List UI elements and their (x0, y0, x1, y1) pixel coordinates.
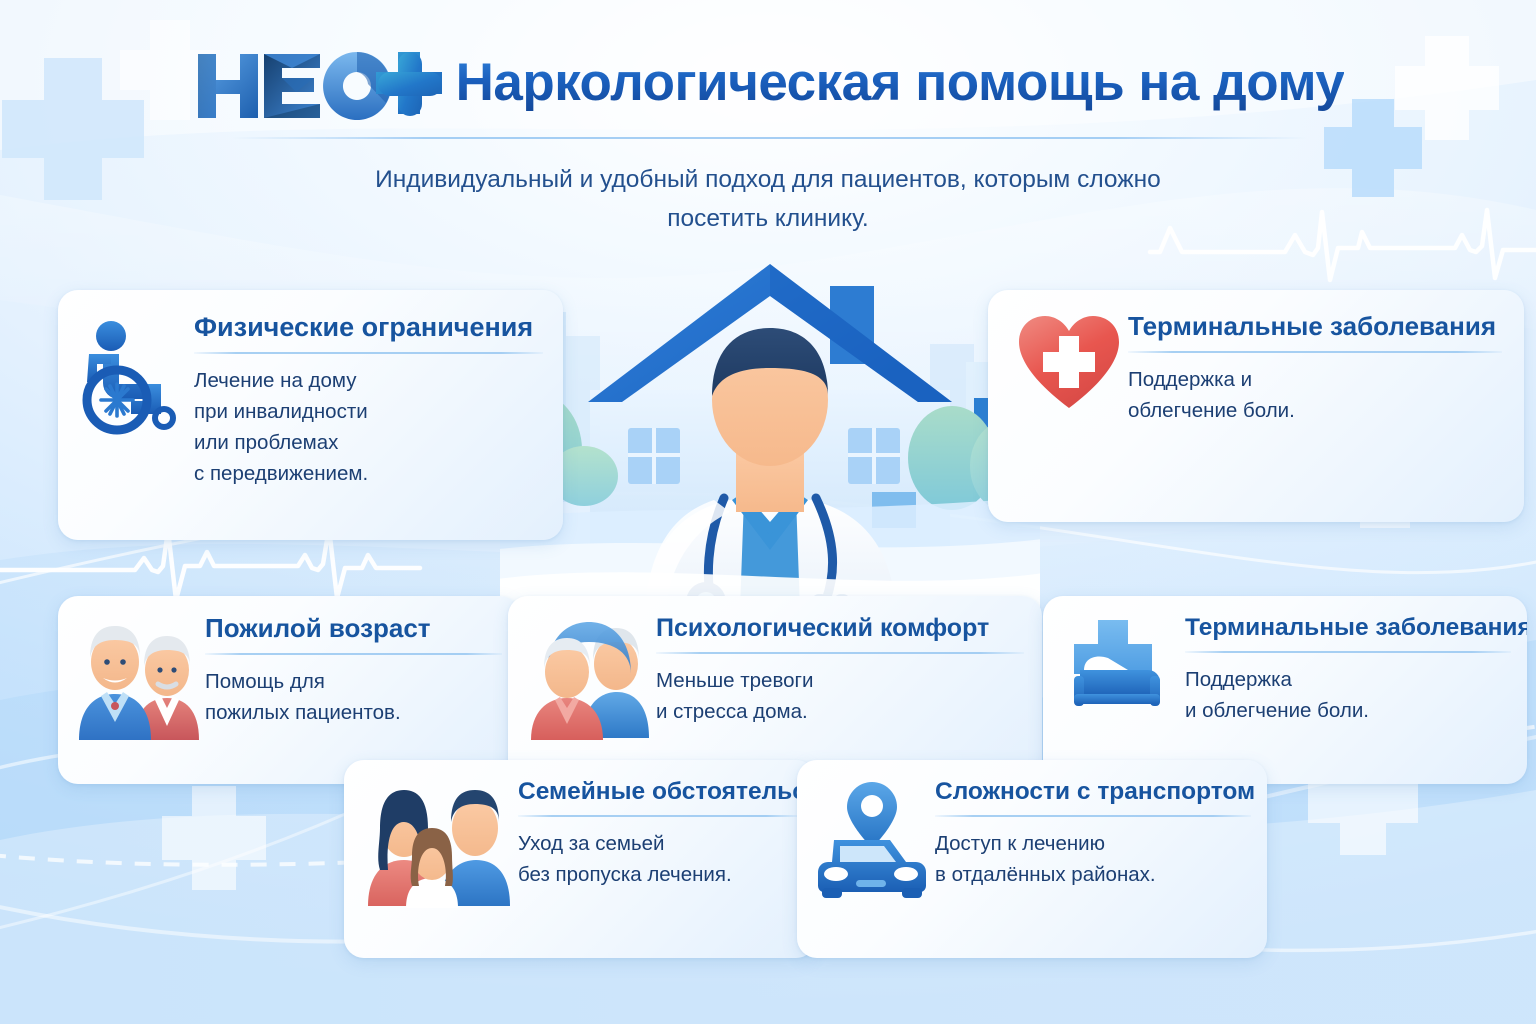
card-transport-difficulties[interactable]: Сложности с транспортом Доступ к лечению… (797, 760, 1267, 958)
wheel-spokes (101, 384, 133, 416)
card-title: Сложности с транспортом (935, 778, 1251, 806)
card-icon-wrapper (358, 778, 518, 908)
card-icon-wrapper (1010, 312, 1128, 412)
car-headlight-left (824, 867, 848, 881)
card-terminal-illness-heart[interactable]: Терминальные заболевания Поддержка и обл… (988, 290, 1524, 522)
desc-line: Поддержка (1185, 664, 1511, 695)
page-title: Наркологическая помощь на дому (456, 55, 1345, 111)
elderly-man-tie (111, 702, 119, 710)
card-title: Пожилой возраст (205, 614, 502, 644)
card-title: Семейные обстоятельства (518, 778, 800, 806)
card-title: Терминальные заболевания (1185, 614, 1511, 642)
card-description: Доступ к лечению в отдалённых районах. (935, 828, 1251, 890)
desc-line: без пропуска лечения. (518, 859, 800, 890)
desc-line: облегчение боли. (1128, 395, 1502, 426)
card-title: Психологический комфорт (656, 614, 1024, 643)
car-headlight-right (894, 867, 918, 881)
card-body: Терминальные заболевания Поддержка и обл… (1185, 614, 1511, 726)
card-icon-wrapper (811, 778, 935, 898)
desc-line: Лечение на дому (194, 365, 543, 396)
subtitle-line-2: посетить клинику. (0, 199, 1536, 238)
header: Наркологическая помощь на дому Индивидуа… (0, 0, 1536, 126)
desc-line: пожилых пациентов. (205, 697, 502, 728)
card-icon-wrapper (76, 312, 194, 437)
card-physical-limitations[interactable]: Физические ограничения Лечение на дому п… (58, 290, 563, 540)
page-subtitle: Индивидуальный и удобный подход для паци… (0, 160, 1536, 238)
card-description: Уход за семьей без пропуска лечения. (518, 828, 800, 890)
desc-line: Поддержка и (1128, 364, 1502, 395)
hospital-bed-cross-icon (1062, 614, 1182, 724)
card-icon-wrapper (1059, 614, 1185, 724)
desc-line: и стресса дома. (656, 696, 1024, 727)
card-title: Терминальные заболевания (1128, 312, 1502, 342)
card-terminal-illness-bed[interactable]: Терминальные заболевания Поддержка и обл… (1043, 596, 1527, 784)
wheelchair-caster (155, 409, 173, 427)
desc-line: Уход за семьей (518, 828, 800, 859)
elderly-couple-icon (75, 614, 203, 742)
infographic-canvas: Наркологическая помощь на дому Индивидуа… (0, 0, 1536, 1024)
card-description: Поддержка и облегчение боли. (1185, 664, 1511, 726)
card-description: Поддержка и облегчение боли. (1128, 364, 1502, 426)
two-people-icon (527, 614, 653, 742)
heart-cross-icon (1015, 312, 1123, 412)
neo-plus-logo (192, 40, 442, 126)
card-body: Физические ограничения Лечение на дому п… (194, 312, 543, 489)
car-pin-icon (814, 778, 932, 898)
card-elderly-age[interactable]: Пожилой возраст Помощь для пожилых пацие… (58, 596, 520, 784)
card-body: Сложности с транспортом Доступ к лечению… (935, 778, 1251, 890)
subtitle-line-1: Индивидуальный и удобный подход для паци… (0, 160, 1536, 199)
desc-line: или проблемах (194, 427, 543, 458)
card-title: Физические ограничения (194, 312, 543, 343)
doctor-house-illustration (500, 250, 1040, 610)
title-divider (232, 137, 1307, 139)
desc-line: и облегчение боли. (1185, 695, 1511, 726)
family-icon (362, 778, 514, 908)
card-psychological-comfort[interactable]: Психологический комфорт Меньше тревоги и… (508, 596, 1042, 784)
card-divider (935, 815, 1251, 817)
card-divider (205, 653, 502, 655)
card-divider (1128, 351, 1502, 353)
card-divider (656, 652, 1024, 654)
card-description: Лечение на дому при инвалидности или про… (194, 365, 543, 489)
pin-hole (861, 795, 883, 817)
car-grille (856, 880, 886, 887)
card-icon-wrapper (72, 614, 205, 742)
card-divider (518, 815, 800, 817)
card-body: Психологический комфорт Меньше тревоги и… (656, 614, 1024, 727)
car-wheel-left (822, 888, 842, 898)
card-divider (194, 352, 543, 354)
bed-frame (1080, 670, 1160, 696)
wheelchair-head (96, 321, 126, 351)
card-family-circumstances[interactable]: Семейные обстоятельства Уход за семьей б… (344, 760, 816, 958)
desc-line: Меньше тревоги (656, 665, 1024, 696)
desc-line: в отдалённых районах. (935, 859, 1251, 890)
wheelchair-icon (79, 312, 191, 437)
desc-line: с передвижением. (194, 458, 543, 489)
desc-line: при инвалидности (194, 396, 543, 427)
card-description: Меньше тревоги и стресса дома. (656, 665, 1024, 727)
card-body: Пожилой возраст Помощь для пожилых пацие… (205, 614, 502, 728)
card-divider (1185, 651, 1511, 653)
card-body: Терминальные заболевания Поддержка и обл… (1128, 312, 1502, 426)
bed-base (1074, 694, 1160, 704)
card-body: Семейные обстоятельства Уход за семьей б… (518, 778, 800, 890)
desc-line: Доступ к лечению (935, 828, 1251, 859)
card-icon-wrapper (524, 614, 656, 742)
car-wheel-right (902, 888, 922, 898)
card-description: Помощь для пожилых пациентов. (205, 666, 502, 728)
father-face (452, 800, 498, 856)
desc-line: Помощь для (205, 666, 502, 697)
